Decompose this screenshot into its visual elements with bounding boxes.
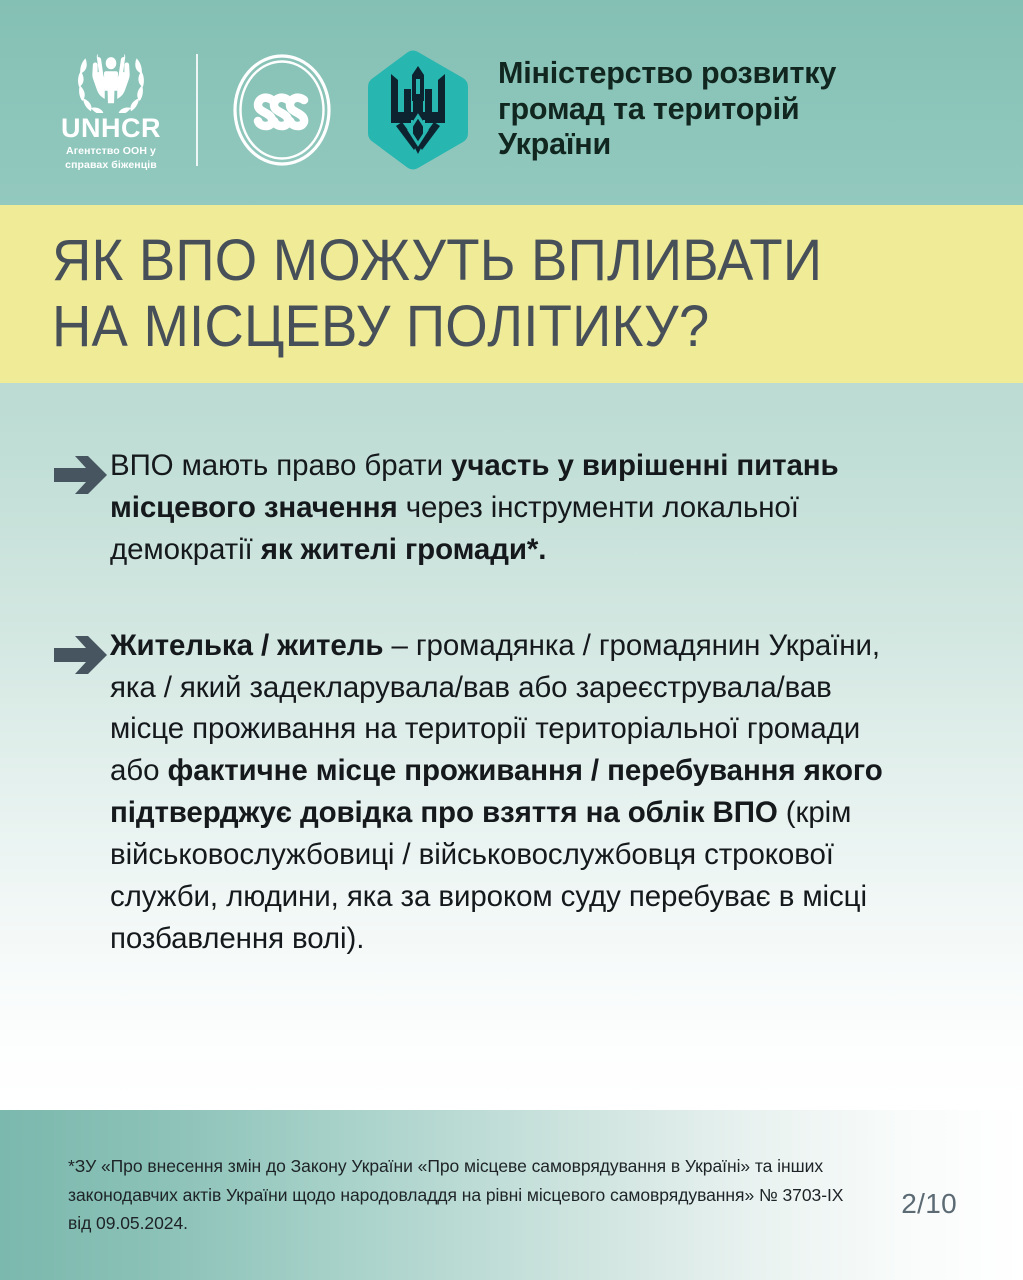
logo-divider: [196, 54, 198, 166]
bold-phrase: фактичне місце проживання / перебування …: [110, 754, 883, 829]
footnote-text: *ЗУ «Про внесення змін до Закону України…: [68, 1152, 843, 1237]
unhcr-wordmark: UNHCR: [61, 115, 161, 142]
page-indicator: 2/10: [901, 1188, 957, 1220]
title-band: ЯК ВПО МОЖУТЬ ВПЛИВАТИ НА МІСЦЕВУ ПОЛІТИ…: [0, 205, 1023, 383]
arrow-right-icon: [52, 453, 110, 497]
infographic-page: UNHCR Агентство ООН у справах біженців: [0, 0, 1023, 1280]
sss-circular-emblem-icon: [226, 49, 338, 171]
ministry-name: Міністерство розвитку громад та територі…: [498, 56, 836, 163]
unhcr-logo: UNHCR Агентство ООН у справах біженців: [52, 47, 170, 171]
page-title: ЯК ВПО МОЖУТЬ ВПЛИВАТИ НА МІСЦЕВУ ПОЛІТИ…: [52, 228, 822, 359]
content-area: ВПО мають право брати участь у вирішенні…: [0, 383, 1023, 1110]
ministry-emblem: [364, 50, 472, 170]
bullet-item: Жителька / житель – громадянка / громадя…: [52, 625, 971, 960]
header-bar: UNHCR Агентство ООН у справах біженців: [0, 0, 1023, 205]
unhcr-subtitle: Агентство ООН у справах біженців: [52, 145, 170, 171]
text-run: ВПО мають право брати: [110, 449, 451, 482]
ukraine-tryzub-hexagon-icon: [364, 50, 472, 170]
bullet-text-2: Жителька / житель – громадянка / громадя…: [110, 625, 900, 960]
bold-phrase: як жителі громади*.: [261, 533, 547, 566]
bold-phrase: Жителька / житель: [110, 629, 383, 662]
arrow-right-icon: [52, 633, 110, 677]
footer-bar: *ЗУ «Про внесення змін до Закону України…: [0, 1110, 1023, 1280]
logo-row: UNHCR Агентство ООН у справах біженців: [52, 47, 836, 171]
bullet-text-1: ВПО мають право брати участь у вирішенні…: [110, 445, 900, 571]
unhcr-hands-laurel-icon: [63, 47, 159, 113]
bullet-item: ВПО мають право брати участь у вирішенні…: [52, 445, 971, 571]
